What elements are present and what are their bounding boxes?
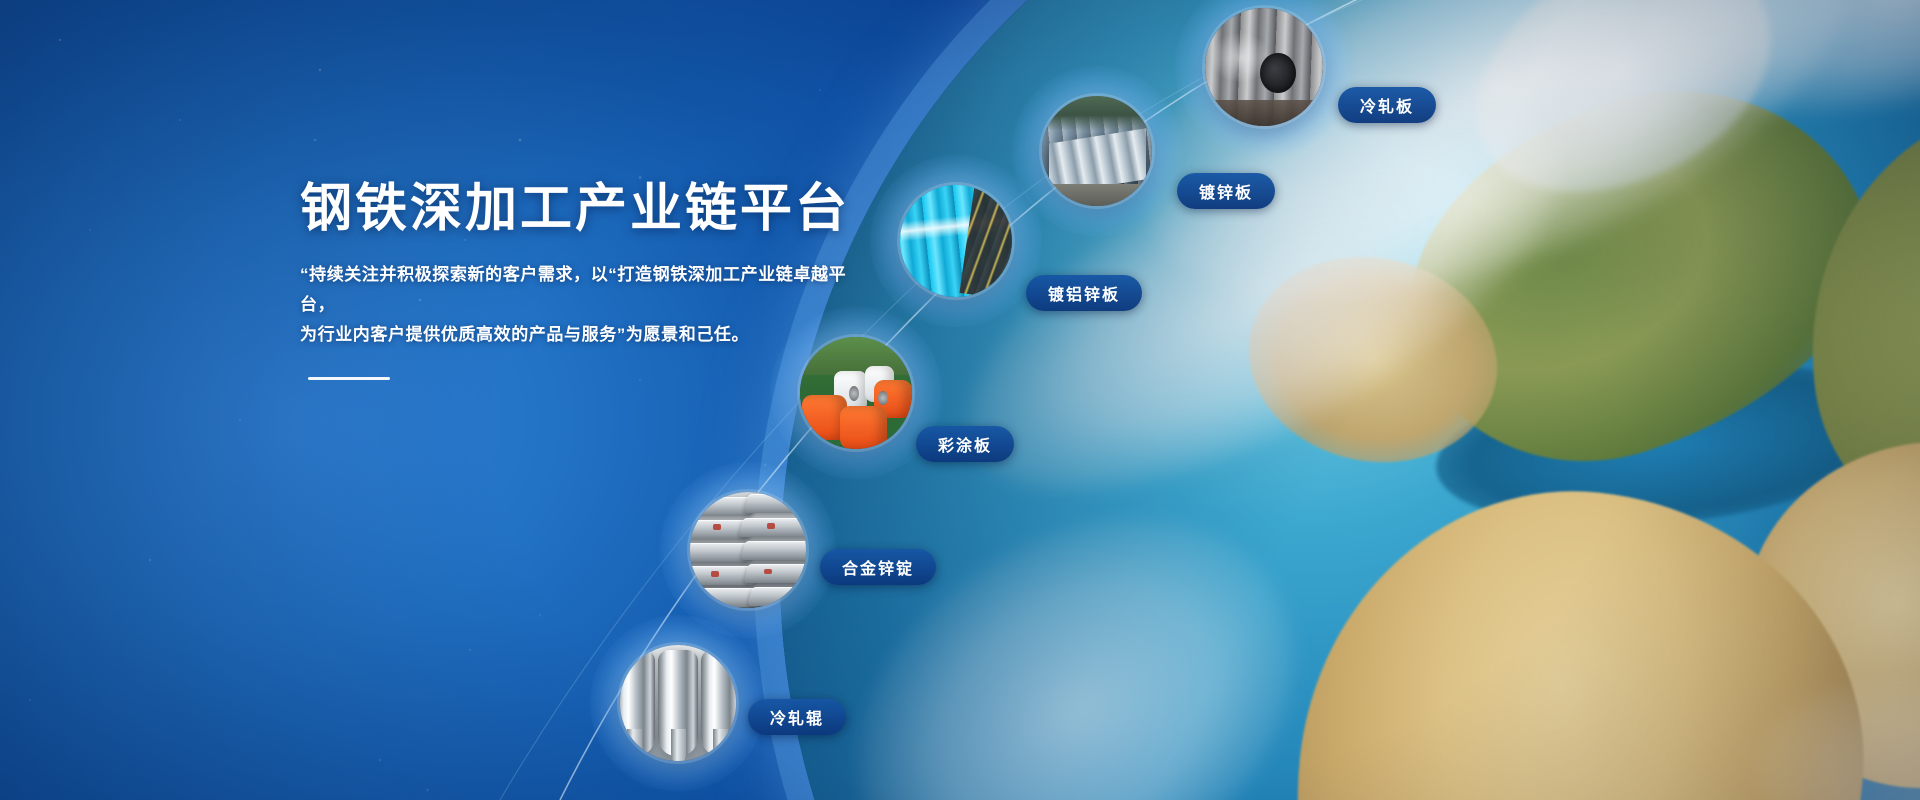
atmosphere-glow (754, 0, 1920, 800)
product-label-text: 镀锌板 (1199, 179, 1253, 203)
page-title: 钢铁深加工产业链平台 (300, 180, 940, 238)
product-image-galvanized-sheet[interactable] (1042, 96, 1152, 206)
product-label-color-coated-sheet[interactable]: 彩涂板 (916, 426, 1014, 462)
yard-background (800, 337, 912, 375)
starfield-layer-a (0, 0, 1920, 800)
cloud-band-6 (1720, 629, 1920, 800)
ingot-stamp (764, 569, 772, 575)
coil-bore (1260, 53, 1295, 93)
product-label-text: 彩涂板 (938, 432, 992, 456)
product-label-galvanized-sheet[interactable]: 镀锌板 (1177, 173, 1275, 209)
product-image-cold-rolling-roller[interactable] (620, 645, 736, 761)
product-chain-arc (0, 0, 1920, 800)
roller-journal (671, 729, 686, 761)
cloud-band-4 (787, 441, 1366, 800)
subtitle-line-2: 为行业内客户提供优质高效的产品与服务”为愿景和己任。 (300, 320, 860, 350)
product-label-text: 冷轧板 (1360, 93, 1414, 117)
steel-coil-photo (1205, 8, 1323, 126)
ingot-bar (741, 541, 806, 560)
hero-banner: 钢铁深加工产业链平台 “持续关注并积极探索新的客户需求，以“打造钢铁深加工产业链… (0, 0, 1920, 800)
product-label-cold-rolled-sheet[interactable]: 冷轧板 (1338, 87, 1436, 123)
continent-asia (1779, 72, 1920, 601)
continent-africa (1262, 464, 1889, 800)
continent-arabia (1720, 418, 1920, 800)
continent-iberia (1230, 234, 1516, 484)
product-label-text: 冷轧辊 (770, 705, 824, 729)
vignette-overlay (0, 0, 1920, 800)
subtitle-line-1: “持续关注并积极探索新的客户需求，以“打造钢铁深加工产业链卓越平台， (300, 260, 860, 320)
ingot-bar (743, 494, 806, 513)
warehouse-floor (1042, 184, 1152, 206)
product-label-cold-rolling-roller[interactable]: 冷轧辊 (748, 699, 846, 735)
continent-europe (1362, 38, 1913, 509)
roller-journal (627, 729, 642, 761)
ingot-bar (748, 587, 806, 606)
hero-subtitle: “持续关注并积极探索新的客户需求，以“打造钢铁深加工产业链卓越平台， 为行业内客… (300, 260, 860, 349)
ingot-stamp (711, 571, 719, 577)
product-image-alu-zinc-coated-sheet[interactable] (900, 185, 1012, 297)
title-divider (308, 377, 390, 380)
ingot-stamp (767, 523, 775, 529)
product-image-zinc-alloy-ingot[interactable] (690, 492, 806, 608)
warehouse-roof (1042, 96, 1152, 131)
product-label-zinc-alloy-ingot[interactable]: 合金锌锭 (820, 549, 936, 585)
cold-roll-rollers-photo (620, 645, 736, 761)
orange-coil-2 (840, 406, 887, 449)
product-label-alu-zinc-coated-sheet[interactable]: 镀铝锌板 (1026, 275, 1142, 311)
zinc-ingot-stack-photo (690, 492, 806, 608)
galvanized-warehouse-photo (1042, 96, 1152, 206)
cloud-band-3 (1619, 0, 1920, 155)
aluzinc-coil-photo (900, 185, 1012, 297)
product-image-color-coated-sheet[interactable] (800, 337, 912, 449)
ingot-bar (743, 564, 806, 583)
ingot-stamp (713, 524, 721, 530)
product-image-cold-rolled-sheet[interactable] (1205, 8, 1323, 126)
product-label-text: 镀铝锌板 (1048, 281, 1120, 305)
roller-journal (713, 729, 728, 761)
snow-cover-north (1435, 0, 1810, 236)
mediterranean-sea (1428, 343, 1910, 547)
factory-floor (1205, 100, 1323, 126)
product-label-text: 合金锌锭 (842, 555, 914, 579)
color-coated-coil-photo (800, 337, 912, 449)
coil-rack (960, 185, 1012, 297)
